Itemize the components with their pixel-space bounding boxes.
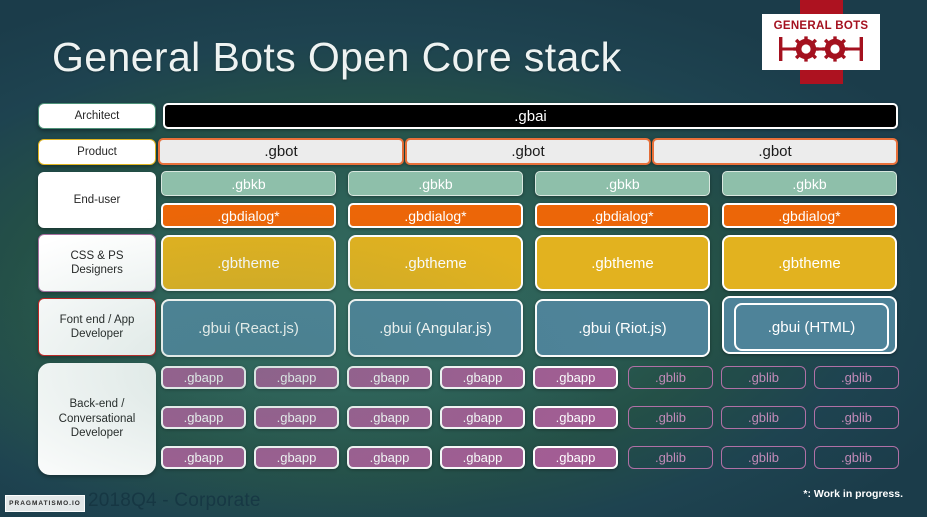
- layer-box-gbkb[interactable]: .gbkb: [348, 171, 523, 196]
- layer-box-gbapp[interactable]: .gbapp: [347, 406, 432, 429]
- layer-box-label: .gbapp: [556, 410, 596, 425]
- role-label-text: CSS & PS Designers: [70, 249, 123, 278]
- footer-caption: 2018Q4 - Corporate: [88, 490, 261, 512]
- layer-box-label: .gbapp: [277, 410, 317, 425]
- role-label-front-end-developer: Font end / App Developer: [38, 298, 156, 356]
- layer-box-gblib[interactable]: .gblib: [721, 446, 806, 469]
- layer-box-gbdialog[interactable]: .gbdialog*: [722, 203, 897, 228]
- layer-box-gbdialog[interactable]: .gbdialog*: [348, 203, 523, 228]
- layer-box-label: .gblib: [655, 370, 686, 385]
- logo-wordmark: GENERAL BOTS: [774, 21, 869, 33]
- layer-box-label: .gblib: [841, 410, 872, 425]
- layer-box-gblib[interactable]: .gblib: [721, 406, 806, 429]
- layer-box-label: .gblib: [655, 410, 686, 425]
- layer-box-gbkb[interactable]: .gbkb: [535, 171, 710, 196]
- layer-box-gbapp[interactable]: .gbapp: [440, 406, 525, 429]
- layer-box-label: .gbapp: [184, 450, 224, 465]
- layer-box-label: .gbapp: [184, 370, 224, 385]
- layer-box-gbapp[interactable]: .gbapp: [533, 366, 618, 389]
- layer-box-gblib[interactable]: .gblib: [814, 406, 899, 429]
- layer-box-gbapp[interactable]: .gbapp: [533, 446, 618, 469]
- layer-box-gbapp[interactable]: .gbapp: [254, 366, 339, 389]
- layer-box-gbot[interactable]: .gbot: [405, 138, 651, 165]
- layer-box-gblib[interactable]: .gblib: [628, 406, 713, 429]
- layer-box-gbkb[interactable]: .gbkb: [722, 171, 897, 196]
- layer-box-gbapp[interactable]: .gbapp: [161, 406, 246, 429]
- layer-box-gbapp[interactable]: .gbapp: [161, 446, 246, 469]
- general-bots-logo: GENERAL BOTS: [762, 0, 880, 88]
- layer-box-label: .gbapp: [556, 450, 596, 465]
- layer-box-gblib[interactable]: .gblib: [628, 366, 713, 389]
- layer-box-gbtheme[interactable]: .gbtheme: [348, 235, 523, 291]
- layer-box-gbui-react[interactable]: .gbui (React.js): [161, 299, 336, 357]
- layer-box-gbapp[interactable]: .gbapp: [347, 366, 432, 389]
- layer-box-gbkb[interactable]: .gbkb: [161, 171, 336, 196]
- layer-box-label: .gbui (Angular.js): [379, 320, 492, 337]
- layer-box-label: .gbui (HTML): [768, 319, 856, 336]
- role-label-text: Font end / App Developer: [60, 313, 135, 342]
- layer-box-label: .gbapp: [277, 370, 317, 385]
- layer-box-label: .gbot: [511, 143, 544, 160]
- layer-box-label: .gbapp: [370, 370, 410, 385]
- layer-box-gbapp[interactable]: .gbapp: [533, 406, 618, 429]
- layer-box-label: .gblib: [748, 450, 779, 465]
- layer-box-label: .gblib: [655, 450, 686, 465]
- layer-box-gbot[interactable]: .gbot: [158, 138, 404, 165]
- layer-box-label: .gbui (Riot.js): [578, 320, 666, 337]
- layer-box-label: .gbapp: [556, 370, 596, 385]
- layer-box-label: .gbui (React.js): [198, 320, 299, 337]
- layer-box-gbot[interactable]: .gbot: [652, 138, 898, 165]
- layer-box-label: .gbdialog*: [217, 208, 279, 224]
- layer-box-label: .gbdialog*: [404, 208, 466, 224]
- layer-box-label: .gbai: [514, 108, 547, 125]
- layer-box-label: .gblib: [748, 410, 779, 425]
- role-label-back-end-developer: Back-end / Conversational Developer: [38, 363, 156, 475]
- layer-box-label: .gbdialog*: [591, 208, 653, 224]
- role-label-text: Back-end / Conversational Developer: [59, 397, 136, 440]
- work-in-progress-note: *: Work in progress.: [803, 488, 903, 500]
- layer-box-label: .gbapp: [370, 410, 410, 425]
- role-label-text: End-user: [74, 193, 121, 207]
- role-label-product: Product: [38, 139, 156, 165]
- layer-box-gbui-html[interactable]: .gbui (HTML): [734, 303, 889, 351]
- layer-box-gbapp[interactable]: .gbapp: [254, 406, 339, 429]
- layer-box-label: .gbapp: [463, 410, 503, 425]
- layer-box-gbapp[interactable]: .gbapp: [440, 446, 525, 469]
- layer-box-gblib[interactable]: .gblib: [814, 446, 899, 469]
- layer-box-label: .gbkb: [231, 176, 265, 192]
- layer-box-label: .gblib: [841, 370, 872, 385]
- layer-box-label: .gbkb: [418, 176, 452, 192]
- layer-box-label: .gbtheme: [591, 255, 654, 272]
- role-label-css-ps-designers: CSS & PS Designers: [38, 234, 156, 292]
- role-label-text: Product: [77, 145, 117, 159]
- layer-box-label: .gbapp: [463, 450, 503, 465]
- role-label-architect: Architect: [38, 103, 156, 129]
- layer-box-label: .gbot: [758, 143, 791, 160]
- layer-box-gbui-angular[interactable]: .gbui (Angular.js): [348, 299, 523, 357]
- layer-box-label: .gbot: [264, 143, 297, 160]
- layer-box-label: .gbkb: [605, 176, 639, 192]
- page-title: General Bots Open Core stack: [52, 34, 622, 81]
- layer-box-gbapp[interactable]: .gbapp: [161, 366, 246, 389]
- layer-box-label: .gbapp: [370, 450, 410, 465]
- role-label-text: Architect: [75, 109, 120, 123]
- layer-box-label: .gblib: [841, 450, 872, 465]
- layer-box-label: .gbtheme: [778, 255, 841, 272]
- layer-box-gbui-html-outer[interactable]: .gbui (HTML): [722, 296, 897, 354]
- layer-box-gbtheme[interactable]: .gbtheme: [161, 235, 336, 291]
- layer-box-gbtheme[interactable]: .gbtheme: [535, 235, 710, 291]
- pragmatismo-badge: PRAGMATISMO.IO: [5, 495, 85, 512]
- layer-box-gbai[interactable]: .gbai: [163, 103, 898, 129]
- layer-box-label: .gbtheme: [404, 255, 467, 272]
- two-gears-icon: [775, 35, 867, 63]
- layer-box-gblib[interactable]: .gblib: [814, 366, 899, 389]
- layer-box-label: .gbtheme: [217, 255, 280, 272]
- layer-box-label: .gblib: [748, 370, 779, 385]
- logo-card: GENERAL BOTS: [762, 14, 880, 70]
- layer-box-gblib[interactable]: .gblib: [628, 446, 713, 469]
- role-label-end-user: End-user: [38, 172, 156, 228]
- layer-box-label: .gbapp: [277, 450, 317, 465]
- layer-box-gbdialog[interactable]: .gbdialog*: [535, 203, 710, 228]
- layer-box-gbdialog[interactable]: .gbdialog*: [161, 203, 336, 228]
- layer-box-gbapp[interactable]: .gbapp: [254, 446, 339, 469]
- layer-box-gblib[interactable]: .gblib: [721, 366, 806, 389]
- layer-box-label: .gbapp: [463, 370, 503, 385]
- layer-box-gbapp[interactable]: .gbapp: [347, 446, 432, 469]
- layer-box-label: .gbdialog*: [778, 208, 840, 224]
- layer-box-gbapp[interactable]: .gbapp: [440, 366, 525, 389]
- layer-box-gbui-riot[interactable]: .gbui (Riot.js): [535, 299, 710, 357]
- layer-box-gbtheme[interactable]: .gbtheme: [722, 235, 897, 291]
- slide-canvas: General Bots Open Core stack GENERAL BOT…: [0, 0, 927, 517]
- layer-box-label: .gbapp: [184, 410, 224, 425]
- layer-box-label: .gbkb: [792, 176, 826, 192]
